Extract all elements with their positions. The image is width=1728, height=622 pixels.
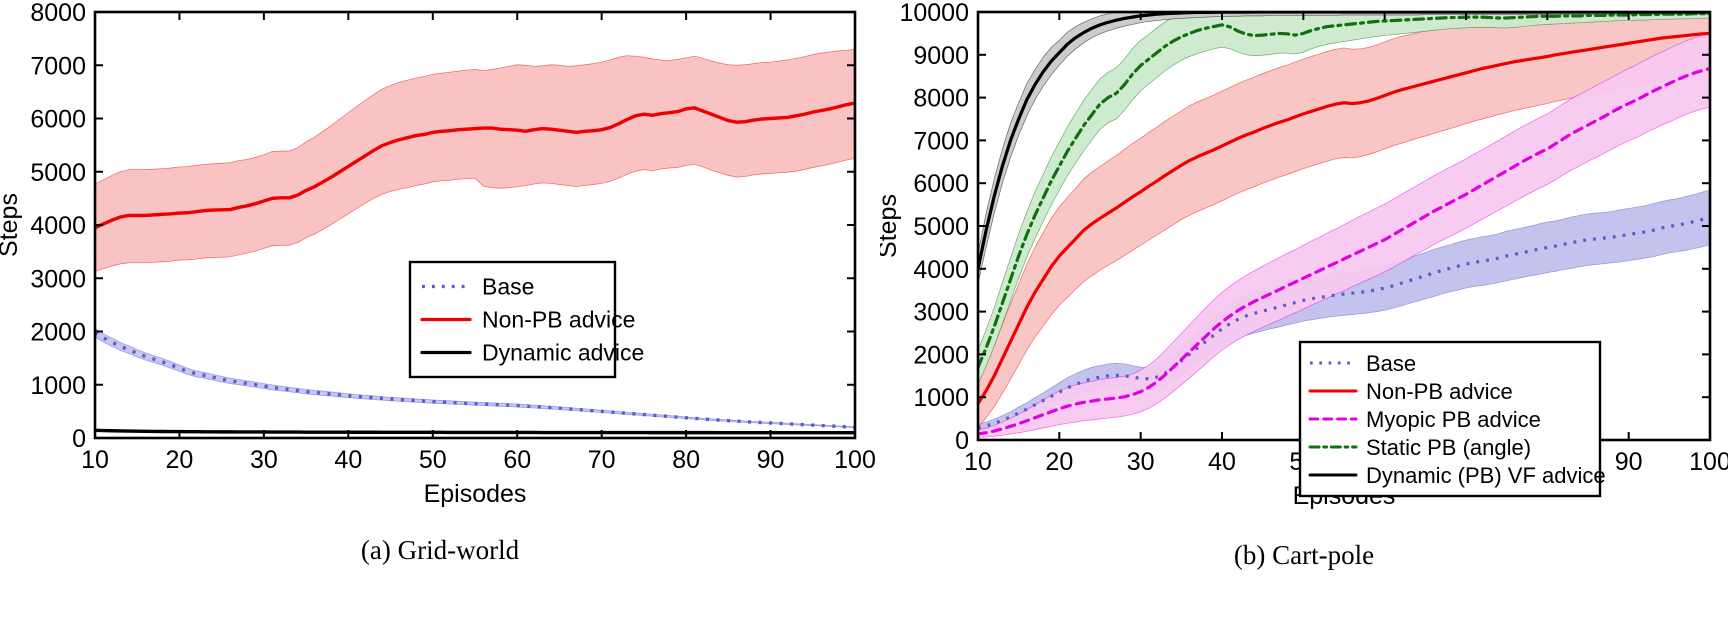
y-tick-label: 2000: [913, 341, 969, 369]
y-tick-label: 9000: [913, 42, 969, 70]
y-tick-label: 4000: [30, 212, 86, 240]
x-tick-label: 50: [419, 446, 447, 474]
x-tick-label: 40: [334, 446, 362, 474]
y-tick-label: 8000: [913, 85, 969, 113]
cart-pole-chart: 0100020003000400050006000700080009000100…: [880, 0, 1728, 540]
y-tick-label: 3000: [913, 299, 969, 327]
legend-label: Non-PB advice: [1366, 379, 1513, 404]
legend-label: Non-PB advice: [482, 307, 635, 333]
y-tick-label: 4000: [913, 256, 969, 284]
y-tick-label: 8000: [30, 0, 86, 27]
x-tick-label: 10: [81, 446, 109, 474]
y-tick-label: 6000: [30, 106, 86, 134]
y-axis-title: Steps: [0, 193, 23, 257]
legend-label: Dynamic (PB) VF advice: [1366, 463, 1606, 488]
panel-cart-pole: 0100020003000400050006000700080009000100…: [880, 0, 1728, 622]
chart-legend: BaseNon-PB adviceDynamic advice: [410, 262, 644, 377]
panel-a-caption: (a) Grid-world: [0, 535, 880, 566]
y-tick-label: 2000: [30, 319, 86, 347]
x-tick-label: 20: [1045, 448, 1073, 476]
y-tick-label: 5000: [913, 213, 969, 241]
x-tick-label: 30: [1127, 448, 1155, 476]
x-tick-label: 20: [166, 446, 194, 474]
series-line-dynamic-advice: [95, 430, 855, 432]
y-axis-title: Steps: [880, 194, 902, 258]
y-tick-label: 7000: [30, 52, 86, 80]
x-tick-label: 100: [1689, 448, 1728, 476]
panel-grid-world: 0100020003000400050006000700080001020304…: [0, 0, 880, 622]
legend-label: Static PB (angle): [1366, 435, 1531, 460]
y-tick-label: 1000: [30, 372, 86, 400]
y-tick-label: 1000: [913, 384, 969, 412]
x-tick-label: 90: [757, 446, 785, 474]
x-tick-label: 60: [503, 446, 531, 474]
x-tick-label: 80: [672, 446, 700, 474]
figure-container: 0100020003000400050006000700080001020304…: [0, 0, 1728, 622]
x-tick-label: 90: [1615, 448, 1643, 476]
grid-world-chart: 0100020003000400050006000700080001020304…: [0, 0, 880, 530]
y-tick-label: 5000: [30, 159, 86, 187]
legend-label: Dynamic advice: [482, 340, 644, 366]
y-tick-label: 3000: [30, 265, 86, 293]
x-tick-label: 70: [588, 446, 616, 474]
y-tick-label: 10000: [899, 0, 969, 27]
x-tick-label: 100: [834, 446, 876, 474]
y-tick-label: 7000: [913, 127, 969, 155]
legend-label: Myopic PB advice: [1366, 407, 1541, 432]
x-tick-label: 40: [1208, 448, 1236, 476]
legend-label: Base: [1366, 351, 1416, 376]
x-tick-label: 10: [964, 448, 992, 476]
x-tick-label: 30: [250, 446, 278, 474]
legend-label: Base: [482, 274, 534, 300]
panel-b-caption: (b) Cart-pole: [880, 540, 1728, 571]
chart-legend: BaseNon-PB adviceMyopic PB adviceStatic …: [1300, 342, 1606, 496]
x-axis-title: Episodes: [424, 480, 527, 508]
y-tick-label: 6000: [913, 170, 969, 198]
confidence-band-non-pb-advice: [95, 49, 855, 271]
